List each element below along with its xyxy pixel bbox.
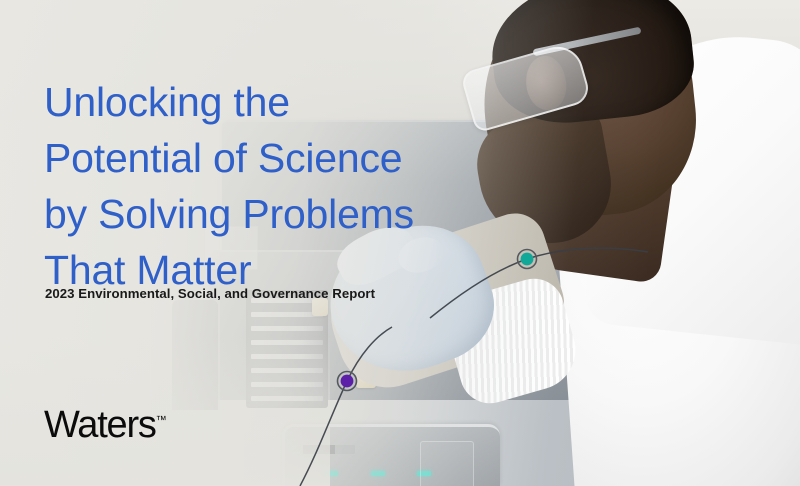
esg-report-cover: Unlocking the Potential of Science by So… (0, 0, 800, 486)
report-subtitle: 2023 Environmental, Social, and Governan… (45, 286, 375, 301)
headline-line-1: Unlocking the (44, 75, 514, 131)
headline-line-2: Potential of Science (44, 131, 514, 187)
cover-content: Unlocking the Potential of Science by So… (0, 0, 800, 486)
trademark-symbol: ™ (156, 414, 167, 426)
waters-logo: Waters™ (44, 404, 167, 447)
headline-line-3: by Solving Problems (44, 187, 514, 243)
page-title: Unlocking the Potential of Science by So… (44, 75, 514, 298)
waters-wordmark: Waters (44, 404, 156, 446)
